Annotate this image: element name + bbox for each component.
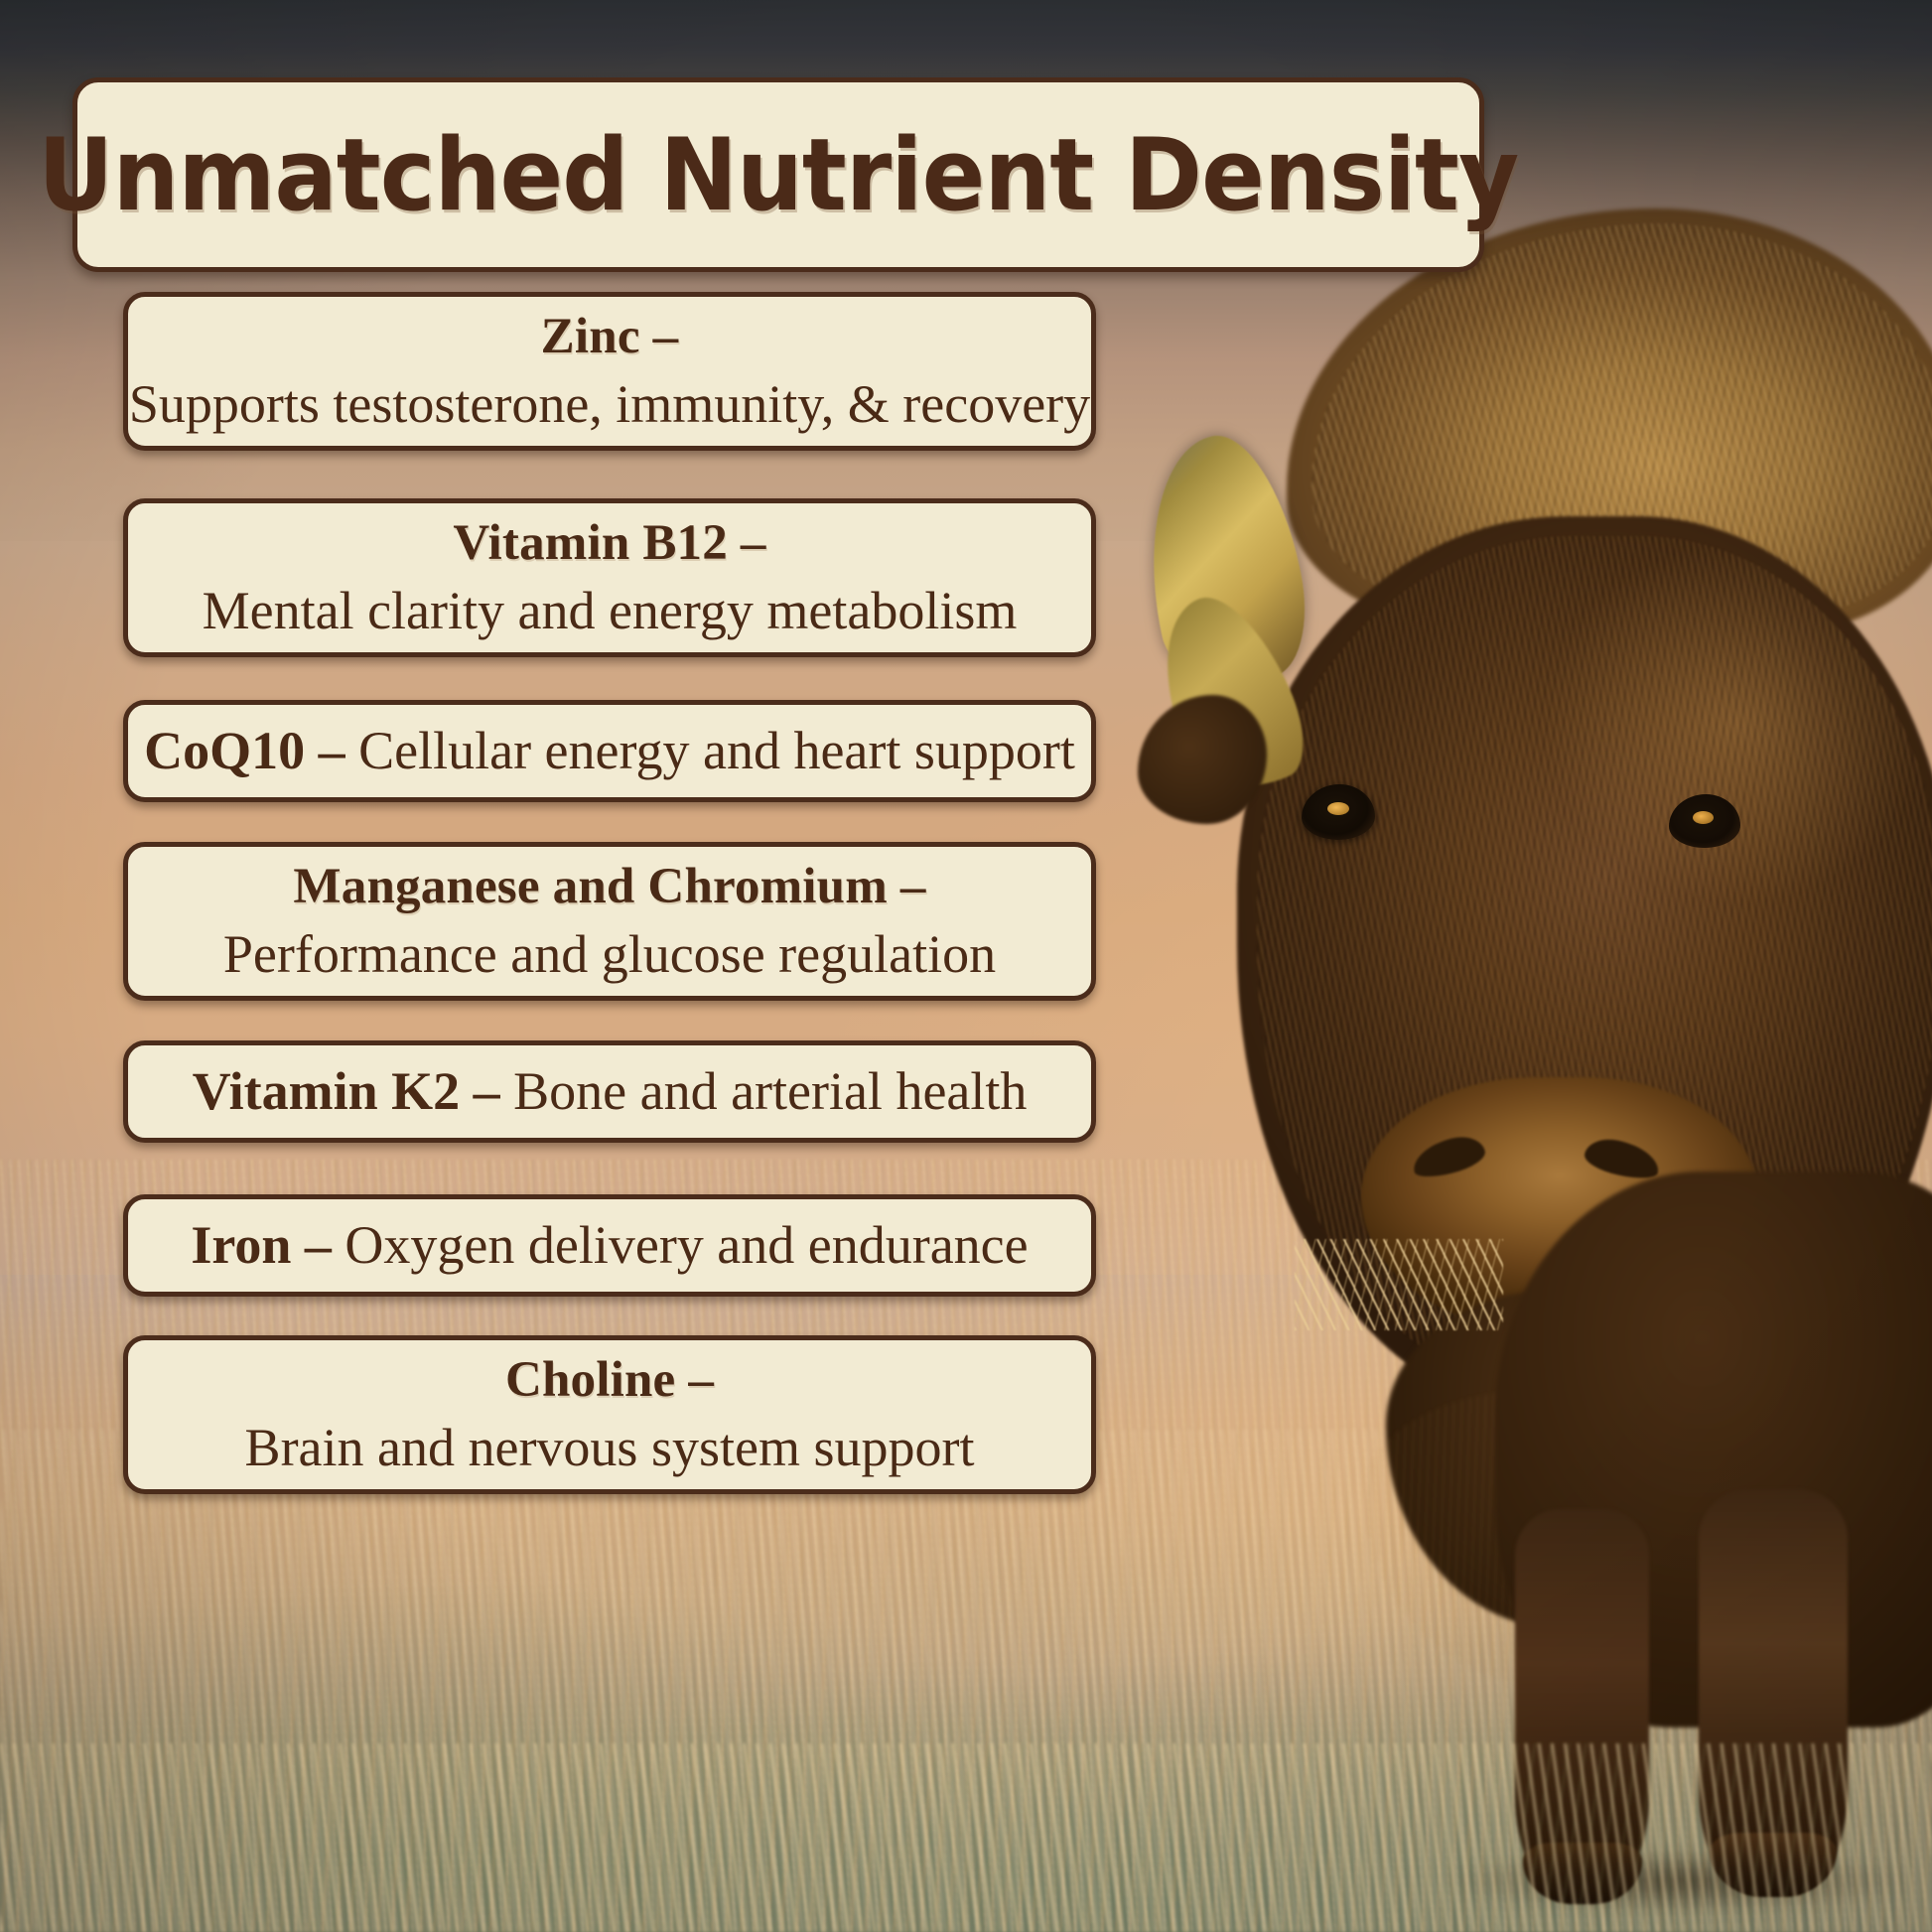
nutrient-description: Oxygen delivery and endurance bbox=[345, 1215, 1028, 1275]
page-title: Unmatched Nutrient Density bbox=[38, 116, 1518, 233]
title-card: Unmatched Nutrient Density bbox=[72, 77, 1484, 272]
nutrient-description: Brain and nervous system support bbox=[245, 1418, 975, 1477]
nutrient-description: Cellular energy and heart support bbox=[358, 721, 1075, 780]
nutrient-label: Vitamin B12 – bbox=[453, 515, 765, 572]
nutrient-description: Bone and arterial health bbox=[513, 1061, 1027, 1121]
nutrient-card-zinc[interactable]: Zinc – Supports testosterone, immunity, … bbox=[123, 292, 1096, 451]
nutrient-card-vitamin-b12[interactable]: Vitamin B12 – Mental clarity and energy … bbox=[123, 498, 1096, 657]
nutrient-description: Mental clarity and energy metabolism bbox=[203, 581, 1018, 640]
nutrient-label: Zinc – bbox=[541, 309, 679, 365]
nutrient-card-coq10[interactable]: CoQ10 – Cellular energy and heart suppor… bbox=[123, 700, 1096, 802]
nutrient-description: Performance and glucose regulation bbox=[223, 924, 996, 984]
nutrient-label: Manganese and Chromium – bbox=[293, 859, 925, 915]
nutrient-label: CoQ10 – bbox=[144, 721, 358, 780]
nutrient-card-manganese-chromium[interactable]: Manganese and Chromium – Performance and… bbox=[123, 842, 1096, 1001]
nutrient-description: Supports testosterone, immunity, & recov… bbox=[129, 374, 1090, 434]
content-overlay: Unmatched Nutrient Density Zinc – Suppor… bbox=[0, 0, 1932, 1932]
nutrient-label: Vitamin K2 – bbox=[193, 1061, 514, 1121]
nutrient-label: Choline – bbox=[505, 1352, 714, 1409]
nutrient-label: Iron – bbox=[191, 1215, 345, 1275]
nutrient-card-vitamin-k2[interactable]: Vitamin K2 – Bone and arterial health bbox=[123, 1040, 1096, 1143]
nutrient-card-choline[interactable]: Choline – Brain and nervous system suppo… bbox=[123, 1335, 1096, 1494]
nutrient-card-iron[interactable]: Iron – Oxygen delivery and endurance bbox=[123, 1194, 1096, 1297]
